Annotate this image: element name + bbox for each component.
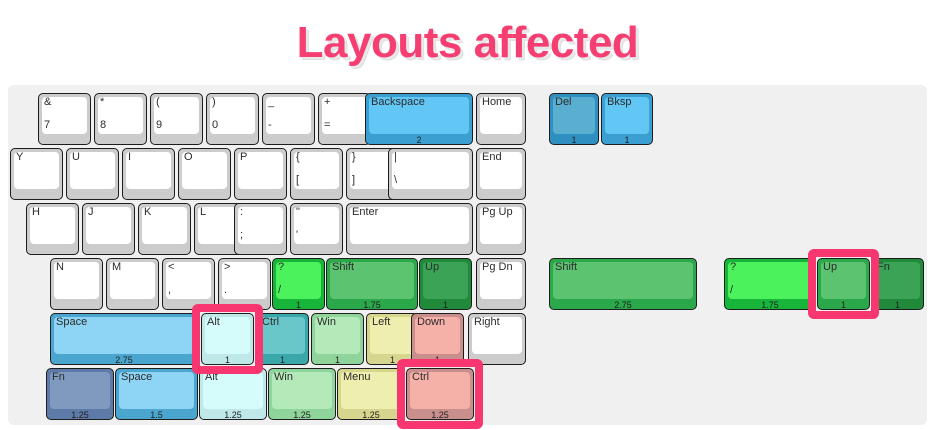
key-size: 1 <box>420 300 471 310</box>
key-legend-bottom: [ <box>296 174 299 186</box>
key-p[interactable]: P <box>234 148 287 200</box>
key-legend-top: Menu <box>343 371 371 383</box>
key-legend-top: : <box>240 206 243 218</box>
key-o[interactable]: O <box>178 148 231 200</box>
key-legend-top: " <box>296 206 300 218</box>
key-0[interactable]: ) 0 <box>206 93 259 145</box>
key-shift-right[interactable]: Shift 1.75 <box>326 258 418 310</box>
key-semicolon[interactable]: : ; <box>234 203 287 255</box>
key-period[interactable]: > . <box>218 258 271 310</box>
key-legend-top: ) <box>212 96 216 108</box>
key-legend-top: Down <box>417 316 445 328</box>
key-legend-top: Win <box>317 316 336 328</box>
key-win-modifier[interactable]: Win 1 <box>311 313 364 365</box>
key-size: 1.25 <box>338 410 404 420</box>
key-legend-top: Del <box>555 96 572 108</box>
keyboard-panel: & 7 * 8 ( 9 ) 0 <box>8 85 927 425</box>
key-up[interactable]: Up 1 <box>419 258 472 310</box>
key-legend-top: J <box>88 206 94 218</box>
key-legend-top: N <box>56 261 64 273</box>
key-backspace[interactable]: Backspace 2 <box>365 93 473 145</box>
key-size: 1 <box>602 135 652 145</box>
key-minus[interactable]: _ - <box>262 93 315 145</box>
key-enter[interactable]: Enter <box>346 203 473 255</box>
key-n[interactable]: N <box>50 258 103 310</box>
key-legend-top: Fn <box>52 371 65 383</box>
key-fn-right-cluster[interactable]: Fn 1 <box>871 258 924 310</box>
key-legend-bottom: 7 <box>44 119 50 131</box>
key-legend-top: Up <box>823 261 837 273</box>
key-i[interactable]: I <box>122 148 175 200</box>
key-size: 1.75 <box>725 300 815 310</box>
key-fn-bottom[interactable]: Fn 1.25 <box>46 368 114 420</box>
key-legend-top: L <box>200 206 206 218</box>
key-home[interactable]: Home <box>476 93 526 145</box>
key-7[interactable]: & 7 <box>38 93 91 145</box>
key-legend-top: I <box>128 151 131 163</box>
key-menu-bottom[interactable]: Menu 1.25 <box>337 368 405 420</box>
key-legend-top: P <box>240 151 247 163</box>
key-legend-top: Ctrl <box>262 316 279 328</box>
key-backslash[interactable]: | \ <box>388 148 473 200</box>
key-legend-top: Ctrl <box>412 371 429 383</box>
key-size: 1.25 <box>269 410 335 420</box>
key-legend-top: Y <box>16 151 23 163</box>
key-del-right[interactable]: Del 1 <box>549 93 599 145</box>
key-legend-bottom: 0 <box>212 119 218 131</box>
key-legend-top: < <box>168 261 174 273</box>
key-legend-top: Win <box>274 371 293 383</box>
key-size: 1.5 <box>116 410 197 420</box>
key-bracket-left[interactable]: { [ <box>290 148 343 200</box>
key-legend-top: Shift <box>555 261 577 273</box>
key-legend-bottom: 8 <box>100 119 106 131</box>
key-legend-top: Shift <box>332 261 354 273</box>
key-legend-top: { <box>296 151 300 163</box>
key-pg-dn[interactable]: Pg Dn <box>476 258 526 310</box>
key-bksp-right[interactable]: Bksp 1 <box>601 93 653 145</box>
key-legend-top: Bksp <box>607 96 631 108</box>
key-size: 2.75 <box>51 355 197 365</box>
key-legend-bottom: = <box>324 119 330 131</box>
key-size: 1 <box>412 355 463 365</box>
key-size: 1 <box>818 300 869 310</box>
keycap <box>294 152 339 189</box>
key-legend-top: | <box>394 151 397 163</box>
key-comma[interactable]: < , <box>162 258 215 310</box>
key-legend-top: Backspace <box>371 96 425 108</box>
key-legend-top: U <box>72 151 80 163</box>
key-legend-top: Enter <box>352 206 378 218</box>
key-legend-top: Home <box>482 96 511 108</box>
key-size: 1 <box>872 300 923 310</box>
key-legend-top: Pg Dn <box>482 261 513 273</box>
key-legend-bottom: / <box>278 284 281 296</box>
key-size: 1.75 <box>327 300 417 310</box>
title-bar: Layouts affected <box>0 0 935 85</box>
key-ctrl-modifier[interactable]: Ctrl 1 <box>256 313 309 365</box>
key-slash[interactable]: ? / 1 <box>272 258 325 310</box>
key-right[interactable]: Right <box>468 313 526 365</box>
key-legend-bottom: ; <box>240 229 243 241</box>
key-size: 1.25 <box>407 410 473 420</box>
key-legend-bottom: . <box>224 284 227 296</box>
key-legend-top: Left <box>372 316 390 328</box>
key-size: 1.25 <box>47 410 113 420</box>
key-legend-top: H <box>32 206 40 218</box>
key-legend-top: _ <box>268 96 274 108</box>
key-h[interactable]: H <box>26 203 79 255</box>
key-shift-right-cluster[interactable]: Shift 2.75 <box>549 258 697 310</box>
key-legend-top: Pg Up <box>482 206 513 218</box>
key-alt-bottom[interactable]: Alt 1.25 <box>199 368 267 420</box>
key-win-bottom[interactable]: Win 1.25 <box>268 368 336 420</box>
key-u[interactable]: U <box>66 148 119 200</box>
key-size: 1 <box>312 355 363 365</box>
key-size: 1 <box>257 355 308 365</box>
key-size: 2 <box>366 135 472 145</box>
keycap <box>238 207 283 244</box>
key-slash-right-cluster[interactable]: ? / 1.75 <box>724 258 816 310</box>
key-size: 1.25 <box>200 410 266 420</box>
key-legend-top: K <box>144 206 151 218</box>
key-legend-bottom: / <box>730 284 733 296</box>
key-space-bottom[interactable]: Space 1.5 <box>115 368 198 420</box>
keycap <box>392 152 469 189</box>
key-size: 1 <box>273 300 324 310</box>
key-alt-modifier[interactable]: Alt 1 <box>201 313 254 365</box>
key-k[interactable]: K <box>138 203 191 255</box>
page-title: Layouts affected <box>297 18 639 68</box>
key-legend-top: ? <box>278 261 284 273</box>
key-space-modifier[interactable]: Space 2.75 <box>50 313 198 365</box>
key-legend-top: * <box>100 96 104 108</box>
key-legend-bottom: ' <box>296 229 298 241</box>
key-legend-top: M <box>112 261 121 273</box>
key-legend-top: Up <box>425 261 439 273</box>
key-legend-bottom: , <box>168 284 171 296</box>
key-size: 2.75 <box>550 300 696 310</box>
key-m[interactable]: M <box>106 258 159 310</box>
key-legend-top: ( <box>156 96 160 108</box>
key-legend-top: + <box>324 96 330 108</box>
key-ctrl-bottom[interactable]: Ctrl 1.25 <box>406 368 474 420</box>
key-legend-top: Alt <box>207 316 220 328</box>
key-legend-top: > <box>224 261 230 273</box>
key-legend-top: & <box>44 96 51 108</box>
key-end[interactable]: End <box>476 148 526 200</box>
key-down[interactable]: Down 1 <box>411 313 464 365</box>
key-legend-top: End <box>482 151 502 163</box>
key-legend-top: } <box>352 151 356 163</box>
keycap <box>728 262 812 299</box>
key-9[interactable]: ( 9 <box>150 93 203 145</box>
key-y[interactable]: Y <box>10 148 63 200</box>
key-quote[interactable]: " ' <box>290 203 343 255</box>
key-legend-bottom: 9 <box>156 119 162 131</box>
key-legend-bottom: ] <box>352 174 355 186</box>
keycap <box>126 152 171 189</box>
key-up-right-cluster[interactable]: Up 1 <box>817 258 870 310</box>
key-legend-top: Alt <box>205 371 218 383</box>
key-legend-top: Fn <box>877 261 890 273</box>
key-8[interactable]: * 8 <box>94 93 147 145</box>
key-size: 1 <box>550 135 598 145</box>
key-size: 1 <box>202 355 253 365</box>
key-legend-bottom: \ <box>394 174 397 186</box>
key-pg-up[interactable]: Pg Up <box>476 203 526 255</box>
key-legend-top: O <box>184 151 193 163</box>
key-legend-top: Space <box>121 371 152 383</box>
key-equals[interactable]: + = <box>318 93 371 145</box>
keycap <box>294 207 339 244</box>
key-legend-top: Right <box>474 316 500 328</box>
key-legend-top: ? <box>730 261 736 273</box>
key-legend-top: Space <box>56 316 87 328</box>
key-legend-bottom: - <box>268 119 272 131</box>
key-j[interactable]: J <box>82 203 135 255</box>
